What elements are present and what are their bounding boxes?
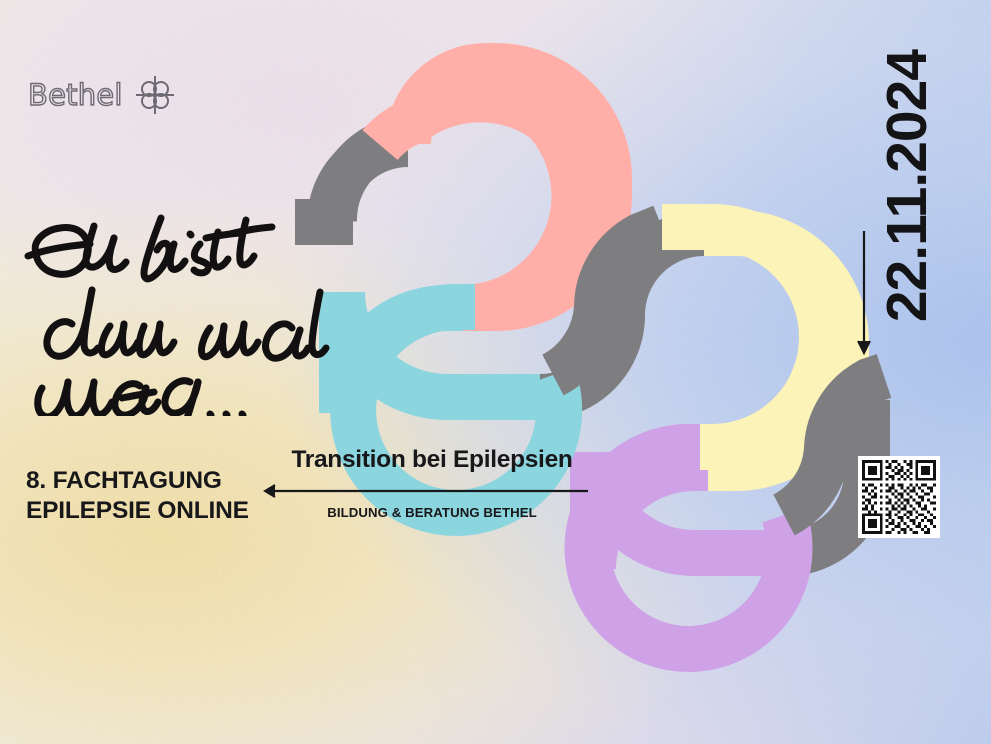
qr-code[interactable] (858, 456, 940, 538)
event-date: 22.11.2024 (874, 50, 940, 322)
qr-code-image (862, 460, 936, 534)
date-layer: 22.11.2024 (0, 0, 991, 744)
poster-canvas: Bethel (0, 0, 991, 744)
vertical-arrow (846, 225, 882, 365)
